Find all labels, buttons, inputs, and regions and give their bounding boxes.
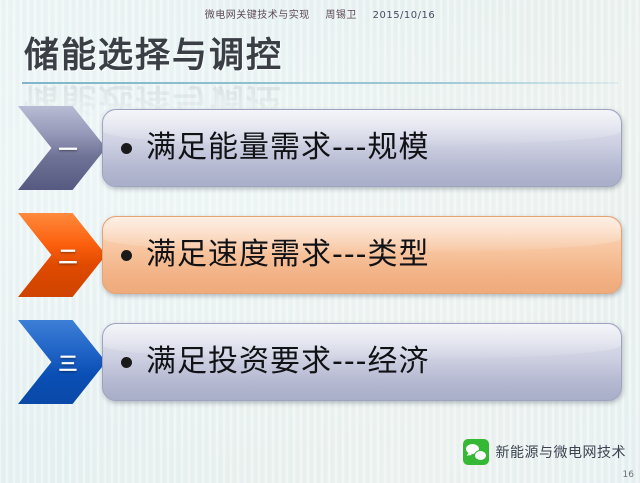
title-block: 储能选择与调控 储能选择与调控 <box>24 36 584 88</box>
page-number: 16 <box>623 470 634 480</box>
title-underline <box>22 82 618 84</box>
bullet-icon <box>121 250 132 261</box>
chevron-index-label: 三 <box>58 349 77 376</box>
header-course-title: 微电网关键技术与实现 <box>205 10 310 21</box>
footer-badge: 新能源与微电网技术 <box>463 439 627 465</box>
footer-badge-label: 新能源与微电网技术 <box>496 442 627 462</box>
slide-header: 微电网关键技术与实现 周锡卫 2015/10/16 <box>0 6 640 21</box>
bubble-text-2: 满足速度需求---类型 <box>146 238 429 272</box>
slide-canvas: 微电网关键技术与实现 周锡卫 2015/10/16 储能选择与调控 储能选择与调… <box>0 0 640 483</box>
list-item[interactable]: 三 满足投资要求---经济 <box>18 320 622 404</box>
content-bubble-3[interactable]: 满足投资要求---经济 <box>102 323 622 401</box>
chevron-index-label: 二 <box>58 242 77 269</box>
chevron-index-label: 一 <box>58 135 77 162</box>
wechat-icon <box>463 439 489 465</box>
bullet-icon <box>121 357 132 368</box>
content-bubble-1[interactable]: 满足能量需求---规模 <box>102 109 622 187</box>
chevron-marker-3: 三 <box>18 320 106 404</box>
bullet-icon <box>121 143 132 154</box>
header-date: 2015/10/16 <box>373 10 436 21</box>
list-item[interactable]: 二 满足速度需求---类型 <box>18 213 622 297</box>
chevron-marker-2: 二 <box>18 213 106 297</box>
list-item[interactable]: 一 满足能量需求---规模 <box>18 106 622 190</box>
content-bubble-2[interactable]: 满足速度需求---类型 <box>102 216 622 294</box>
header-author: 周锡卫 <box>325 10 357 21</box>
page-title: 储能选择与调控 <box>24 36 584 76</box>
chevron-marker-1: 一 <box>18 106 106 190</box>
bubble-text-3: 满足投资要求---经济 <box>146 345 429 379</box>
bubble-text-1: 满足能量需求---规模 <box>146 131 429 165</box>
